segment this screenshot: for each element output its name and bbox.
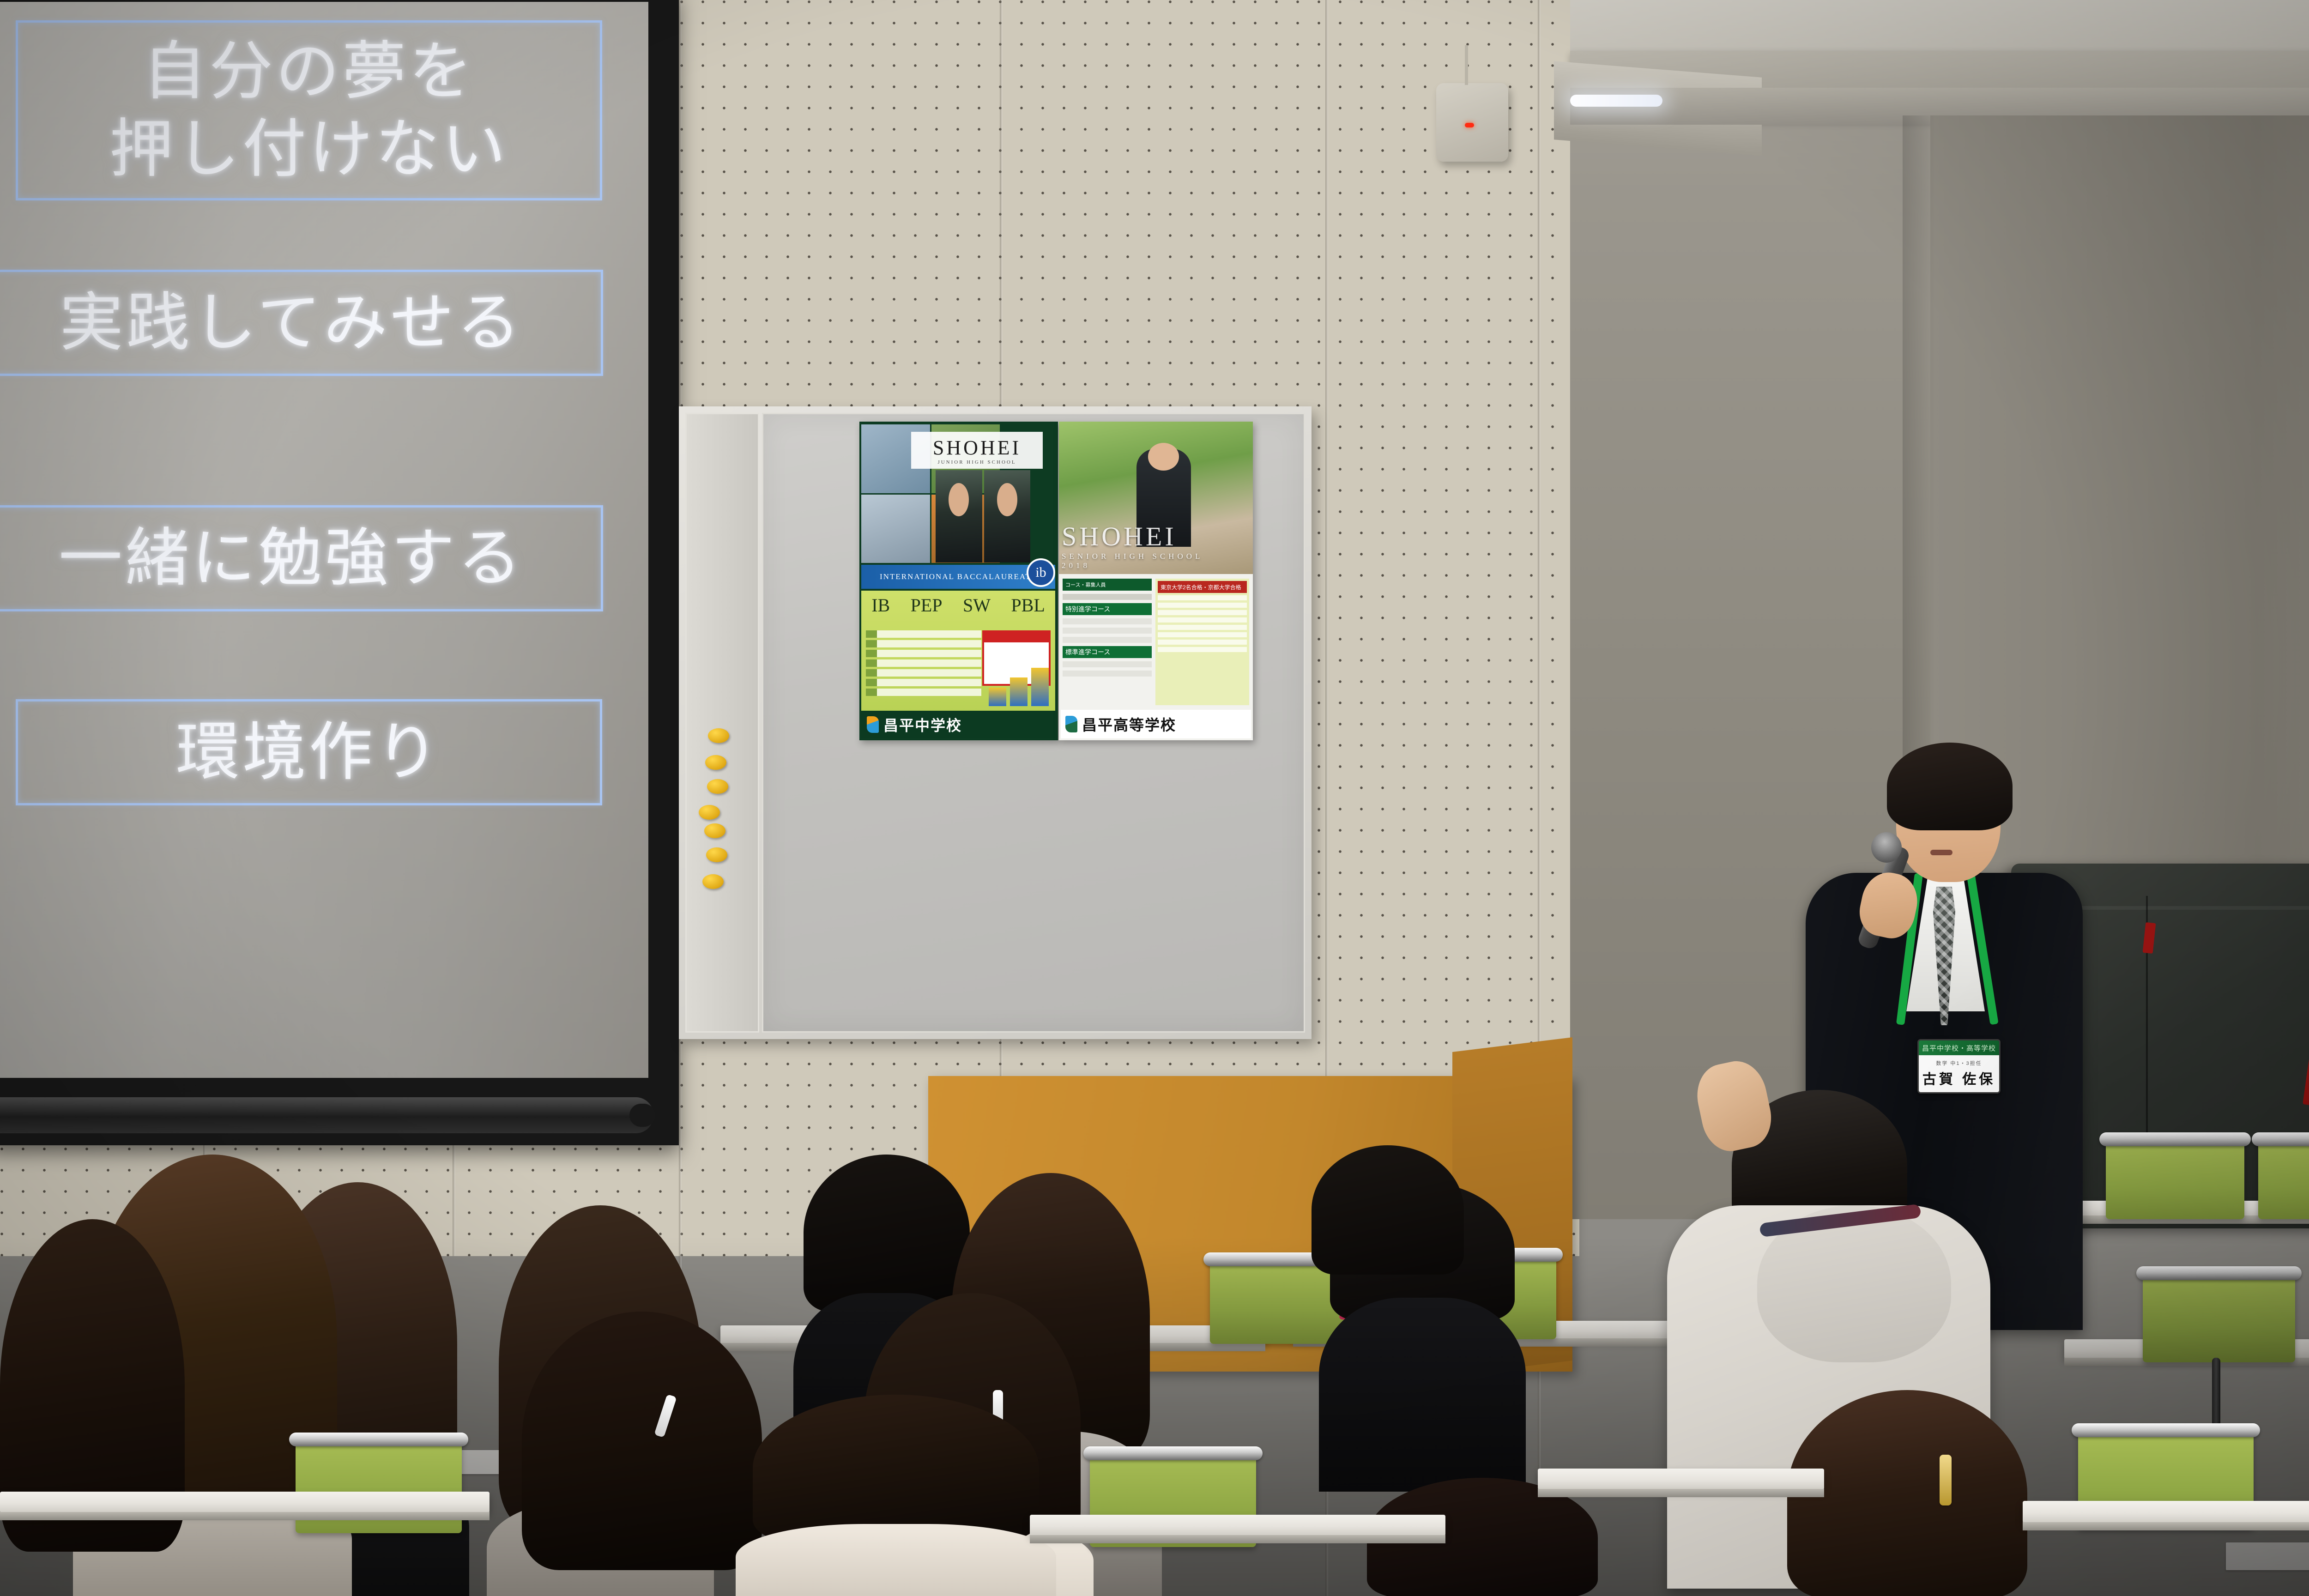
poster-schedule-row — [866, 640, 981, 647]
poster-brand-sub: JUNIOR HIGH SCHOOL — [937, 459, 1016, 465]
attendee-hair — [1312, 1145, 1464, 1275]
poster-highlight-header — [984, 632, 1049, 642]
poster-schedule-row — [866, 650, 981, 657]
poster-course-line — [1063, 671, 1152, 677]
whiteboard-left-rail — [685, 413, 759, 1033]
poster-acronym: PBL — [1011, 594, 1045, 616]
poster-chart-bar — [1010, 677, 1028, 706]
attendee-hair — [522, 1312, 762, 1570]
chair-frame — [1083, 1446, 1263, 1460]
poster-stat-line — [1158, 610, 1247, 615]
poster-stat-line — [1158, 632, 1247, 637]
slide-box-4: 環境作り — [16, 699, 602, 805]
chair-seat — [2143, 1275, 2295, 1362]
speaker-hair — [1887, 743, 2013, 830]
magnet-icon[interactable] — [705, 755, 726, 770]
chair-seat — [2258, 1141, 2309, 1219]
screen-roller-bar[interactable] — [0, 1097, 653, 1133]
poster-student — [936, 470, 982, 562]
poster-schedule-row — [866, 659, 981, 667]
sensor-led-icon — [1465, 123, 1474, 127]
shohei-logo-icon — [1065, 716, 1077, 732]
poster-course-header: コース・募集人員 — [1063, 579, 1152, 591]
poster-photo — [861, 495, 930, 563]
slide-line: 実践してみせる — [60, 284, 523, 362]
poster-school-name: 昌平中学校 — [883, 714, 962, 735]
poster-ib-band: INTERNATIONAL BACCALAUREATE — [861, 565, 1055, 589]
speaker-mouth — [1930, 850, 1952, 855]
badge-name: 古賀 佐保 — [1922, 1068, 1995, 1088]
poster-students-photo — [936, 470, 1030, 562]
poster-stat-line — [1158, 640, 1247, 645]
whiteboard-surface[interactable]: SHOHEI JUNIOR HIGH SCHOOL INTERNATIONAL … — [762, 413, 1305, 1033]
classroom-scene: 自分の夢を 押し付けない 実践してみせる 一緒に勉強する 環境作り — [0, 0, 2309, 1596]
poster-footer: 昌平高等学校 — [1061, 710, 1251, 738]
desk — [0, 1492, 490, 1513]
poster-acronym: SW — [963, 594, 991, 616]
chair-frame — [2136, 1266, 2302, 1280]
desk — [2023, 1501, 2309, 1523]
magnet-icon[interactable] — [706, 847, 727, 862]
poster-stat-line — [1158, 595, 1247, 600]
poster-student — [984, 470, 1031, 562]
poster-schedule-row — [866, 630, 981, 638]
poster-course-column: コース・募集人員 特別進学コース 標準進学コース — [1063, 579, 1152, 705]
magnet-icon[interactable] — [704, 823, 725, 838]
poster-course-line — [1063, 661, 1152, 667]
poster-brand: SHOHEI — [933, 436, 1021, 459]
badge-body: 数学 中1・3担任 古賀 佐保 — [1919, 1055, 1999, 1092]
poster-schedule-rows — [866, 630, 981, 698]
cover-red-accent — [2143, 922, 2156, 954]
slide-line: 一緒に勉強する — [59, 520, 524, 597]
attendee — [1312, 1145, 1464, 1339]
chair-frame — [2252, 1132, 2309, 1146]
slide-box-3: 一緒に勉強する — [0, 505, 603, 611]
attendee-torso — [736, 1524, 1056, 1596]
poster-stat-line — [1158, 603, 1247, 608]
poster-schedule-row — [866, 689, 981, 696]
magnet-icon[interactable] — [699, 805, 720, 820]
motion-sensor-icon — [1436, 83, 1508, 162]
poster-course-name: 標準進学コース — [1063, 646, 1152, 658]
slide-line: 自分の夢を — [143, 33, 475, 110]
poster-footer: 昌平中学校 — [861, 711, 1055, 738]
chair[interactable] — [2258, 1141, 2309, 1219]
poster-green-panel: IB PEP SW PBL — [861, 591, 1055, 711]
poster-shohei-senior-high[interactable]: SHOHEI SENIOR HIGH SCHOOL 2018 コース・募集人員 … — [1059, 422, 1253, 740]
chair[interactable] — [2106, 1141, 2244, 1219]
poster-bar-chart — [989, 666, 1049, 706]
slide-line: 押し付けない — [109, 110, 508, 188]
poster-capacity-line — [1063, 594, 1152, 600]
poster-course-body: コース・募集人員 特別進学コース 標準進学コース 東京大学2名合格・京都大学合格 — [1063, 579, 1249, 705]
poster-brand-block: SHOHEI SENIOR HIGH SCHOOL 2018 — [1062, 521, 1228, 570]
poster-brand-block: SHOHEI JUNIOR HIGH SCHOOL — [911, 432, 1043, 469]
poster-shohei-junior-high[interactable]: SHOHEI JUNIOR HIGH SCHOOL INTERNATIONAL … — [859, 422, 1058, 740]
desk — [1538, 1469, 1824, 1490]
attendee — [753, 1395, 1039, 1596]
screen-surface: 自分の夢を 押し付けない 実践してみせる 一緒に勉強する 環境作り — [0, 2, 648, 1078]
poster-acronym: IB — [871, 594, 890, 616]
poster-schedule-row — [866, 679, 981, 686]
slide-box-2: 実践してみせる — [0, 270, 603, 376]
poster-schedule-row — [866, 669, 981, 677]
poster-course-name: 特別進学コース — [1063, 603, 1152, 615]
slide-line: 環境作り — [176, 713, 442, 791]
chair-frame — [2072, 1423, 2260, 1437]
attendee — [522, 1312, 762, 1596]
projection-screen[interactable]: 自分の夢を 押し付けない 実践してみせる 一緒に勉強する 環境作り — [0, 0, 679, 1145]
slide-box-1: 自分の夢を 押し付けない — [16, 20, 602, 200]
poster-brand: SHOHEI — [1062, 521, 1177, 551]
poster-chart-bar — [1031, 668, 1049, 706]
magnet-icon[interactable] — [708, 728, 729, 743]
desk-edge — [1030, 1535, 1445, 1543]
hair-clip-icon — [1940, 1455, 1952, 1505]
poster-acronyms: IB PEP SW PBL — [861, 594, 1055, 616]
name-badge: 昌平中学校・高等学校 数学 中1・3担任 古賀 佐保 — [1917, 1039, 2001, 1094]
attendee-hair — [753, 1395, 1039, 1542]
attendee — [0, 1219, 185, 1596]
magnet-icon[interactable] — [707, 779, 728, 794]
poster-stat-line — [1158, 617, 1247, 623]
poster-stats-column: 東京大学2名合格・京都大学合格 — [1155, 579, 1249, 705]
poster-brand-sub: SENIOR HIGH SCHOOL 2018 — [1062, 552, 1228, 570]
cover-red-accent — [2303, 1013, 2309, 1106]
badge-org: 昌平中学校・高等学校 — [1919, 1040, 1999, 1055]
shohei-logo-icon — [867, 716, 879, 733]
poster-course-line — [1063, 628, 1152, 634]
desk — [1030, 1515, 1445, 1536]
poster-stat-line — [1158, 625, 1247, 630]
poster-school-name: 昌平高等学校 — [1082, 713, 1176, 735]
poster-course-line — [1063, 618, 1152, 624]
ceiling-light-icon — [1570, 95, 1662, 107]
sensor-stem — [1465, 45, 1468, 85]
badge-role: 数学 中1・3担任 — [1936, 1059, 1982, 1067]
desk-edge — [2023, 1522, 2309, 1530]
poster-highlight: 東京大学2名合格・京都大学合格 — [1158, 581, 1247, 593]
chair[interactable] — [2143, 1275, 2295, 1362]
poster-acronym: PEP — [911, 594, 943, 616]
magnet-icon[interactable] — [702, 874, 724, 889]
poster-course-line — [1063, 637, 1152, 643]
chair-frame — [2099, 1132, 2251, 1146]
ib-logo-icon: ib — [1027, 558, 1055, 587]
attendee-hair — [804, 1155, 970, 1312]
desk-edge — [1538, 1489, 1824, 1497]
poster-chart-bar — [989, 688, 1006, 706]
desk-edge — [0, 1512, 490, 1520]
whiteboard[interactable]: SHOHEI JUNIOR HIGH SCHOOL INTERNATIONAL … — [679, 406, 1312, 1039]
poster-stat-line — [1158, 647, 1247, 652]
chair-seat — [2106, 1141, 2244, 1219]
handout-sheet[interactable] — [2226, 1542, 2309, 1570]
chair-frame — [289, 1433, 468, 1446]
